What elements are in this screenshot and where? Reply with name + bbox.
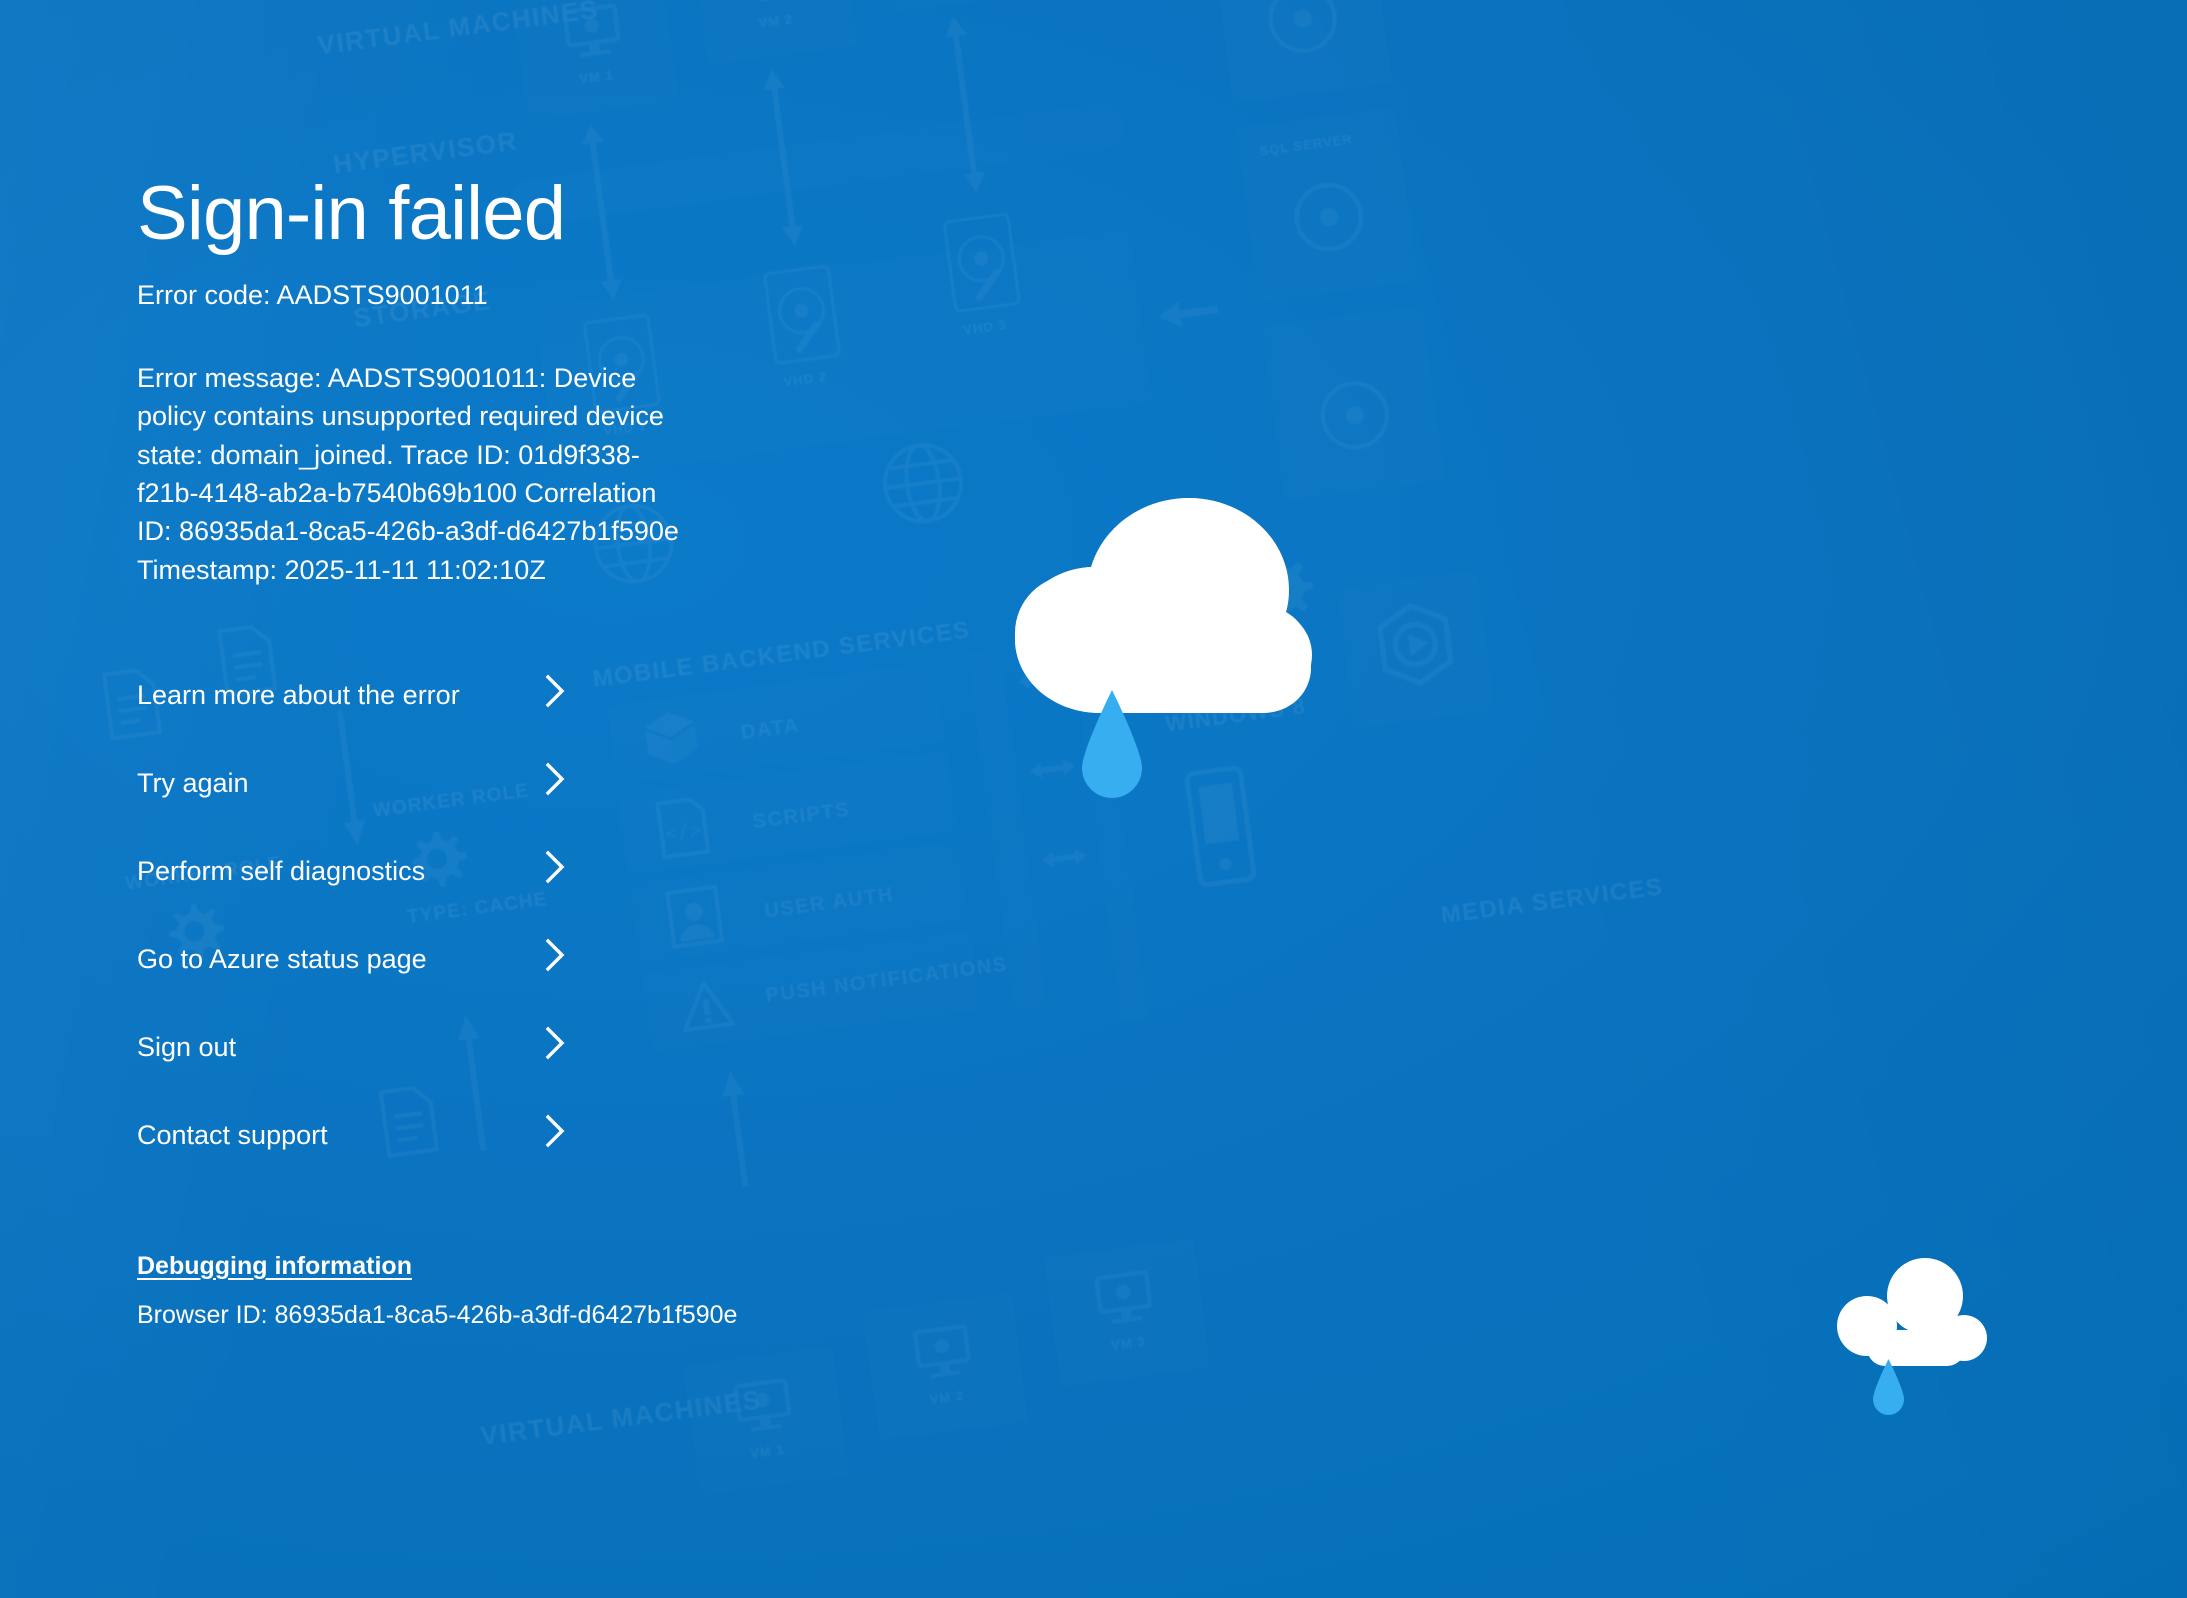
link-learn-more-about-the-error[interactable]: Learn more about the error xyxy=(137,682,567,770)
error-message-text: Error message: AADSTS9001011: Device pol… xyxy=(137,359,697,589)
hard-disk-icon xyxy=(941,211,1023,315)
media-play-icon xyxy=(1365,594,1466,695)
chevron-right-icon xyxy=(542,762,568,796)
debugging-information-toggle[interactable]: Debugging information xyxy=(137,1252,412,1281)
link-label: Perform self diagnostics xyxy=(137,858,425,885)
link-perform-self-diagnostics[interactable]: Perform self diagnostics xyxy=(137,858,567,946)
error-action-links: Learn more about the error Try again Per… xyxy=(137,682,897,1210)
link-contact-support[interactable]: Contact support xyxy=(137,1122,567,1210)
monitor-icon xyxy=(731,1378,795,1435)
link-label: Sign out xyxy=(137,1034,236,1061)
monitor-icon xyxy=(911,1324,975,1381)
link-label: Try again xyxy=(137,770,249,797)
disk-icon xyxy=(1309,361,1401,471)
link-label: Learn more about the error xyxy=(137,682,460,709)
raindrop-icon-large xyxy=(1080,688,1144,800)
bidirectional-arrow-icon xyxy=(1022,752,1083,785)
link-sign-out[interactable]: Sign out xyxy=(137,1034,567,1122)
chevron-right-icon xyxy=(542,850,568,884)
link-label: Go to Azure status page xyxy=(137,946,427,973)
disk-icon xyxy=(1257,0,1349,74)
page-title: Sign-in failed xyxy=(137,176,897,252)
phone-icon xyxy=(1178,763,1263,891)
error-code-line: Error code: AADSTS9001011 xyxy=(137,278,897,313)
chevron-right-icon xyxy=(542,674,568,708)
rain-cloud-icon-large xyxy=(985,455,1315,715)
signin-error-panel: Sign-in failed Error code: AADSTS9001011… xyxy=(137,0,897,1332)
left-arrow-icon xyxy=(1150,292,1224,335)
monitor-icon xyxy=(1092,1270,1156,1327)
browser-id-line: Browser ID: 86935da1-8ca5-426b-a3df-d642… xyxy=(137,1299,897,1332)
rain-cloud-icon-small xyxy=(1822,1240,1990,1368)
disk-icon xyxy=(1283,162,1375,272)
bidirectional-arrow-icon xyxy=(1034,842,1095,875)
chevron-right-icon xyxy=(542,1114,568,1148)
link-go-to-azure-status-page[interactable]: Go to Azure status page xyxy=(137,946,567,1034)
raindrop-icon-small xyxy=(1872,1358,1905,1416)
link-try-again[interactable]: Try again xyxy=(137,770,567,858)
double-arrow-icon xyxy=(938,9,993,201)
link-label: Contact support xyxy=(137,1122,328,1149)
chevron-right-icon xyxy=(542,1026,568,1060)
debugging-information-section: Debugging information Browser ID: 86935d… xyxy=(137,1252,897,1332)
chevron-right-icon xyxy=(542,938,568,972)
watermark-label-media-services: MEDIA SERVICES xyxy=(1439,874,1665,928)
